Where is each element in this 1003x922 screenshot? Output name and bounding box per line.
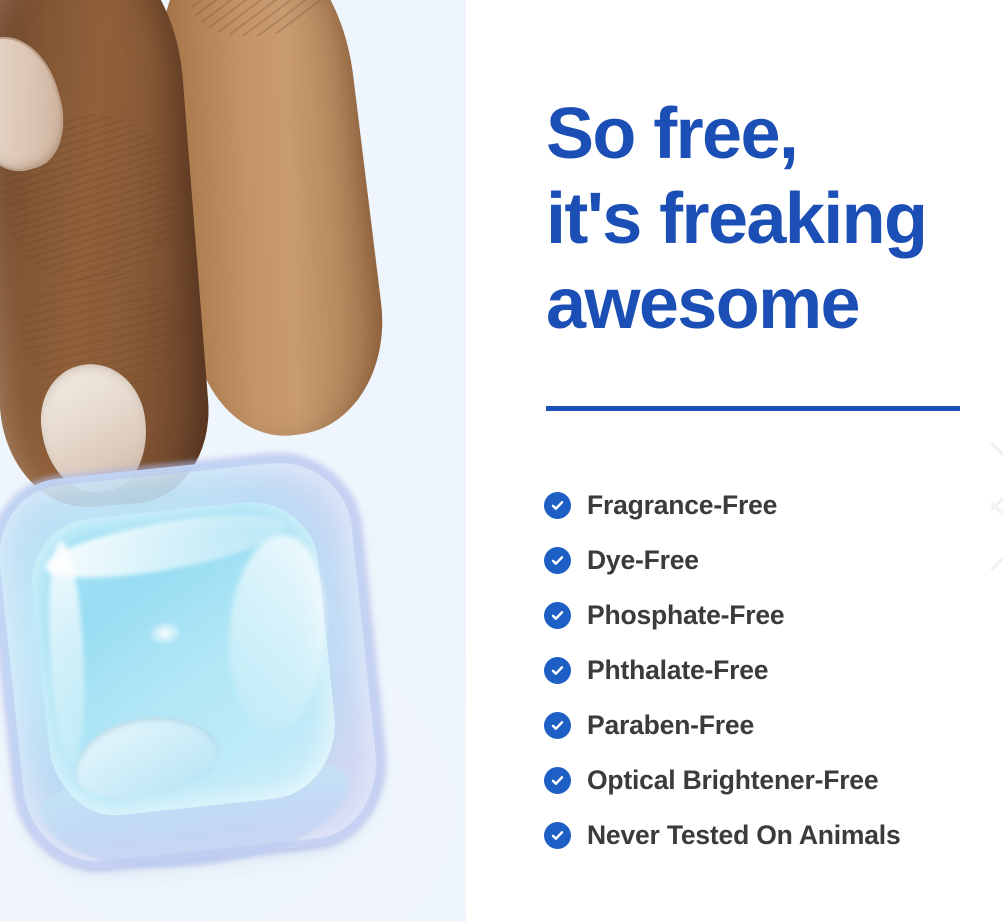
- check-circle-icon: [544, 602, 571, 629]
- detergent-pod: [0, 448, 391, 876]
- product-photo: [0, 0, 466, 922]
- list-item: Paraben-Free: [544, 698, 1003, 753]
- divider-rule: [546, 406, 960, 411]
- headline-line-2: it's freaking: [546, 177, 1003, 262]
- list-item: Phthalate-Free: [544, 643, 1003, 698]
- product-benefits-ad: So free, it's freaking awesome Fragrance…: [0, 0, 1003, 922]
- headline-line-1: So free,: [546, 92, 1003, 177]
- list-item-label: Dye-Free: [587, 545, 699, 576]
- headline-line-3: awesome: [546, 262, 1003, 347]
- list-item: Fragrance-Free: [544, 478, 1003, 533]
- check-circle-icon: [544, 547, 571, 574]
- list-item-label: Optical Brightener-Free: [587, 765, 878, 796]
- check-circle-icon: [544, 657, 571, 684]
- list-item-label: Fragrance-Free: [587, 490, 777, 521]
- list-item: Phosphate-Free: [544, 588, 1003, 643]
- list-item: Never Tested On Animals: [544, 808, 1003, 863]
- check-circle-icon: [544, 767, 571, 794]
- copy-panel: So free, it's freaking awesome Fragrance…: [466, 0, 1003, 922]
- list-item-label: Never Tested On Animals: [587, 820, 901, 851]
- check-circle-icon: [544, 822, 571, 849]
- benefits-list: Fragrance-Free Dye-Free Phosphate-Free: [544, 478, 1003, 863]
- list-item-label: Phthalate-Free: [587, 655, 768, 686]
- check-circle-icon: [544, 492, 571, 519]
- list-item-label: Phosphate-Free: [587, 600, 784, 631]
- list-item: Dye-Free: [544, 533, 1003, 588]
- list-item: Optical Brightener-Free: [544, 753, 1003, 808]
- check-circle-icon: [544, 712, 571, 739]
- headline: So free, it's freaking awesome: [546, 92, 1003, 347]
- list-item-label: Paraben-Free: [587, 710, 754, 741]
